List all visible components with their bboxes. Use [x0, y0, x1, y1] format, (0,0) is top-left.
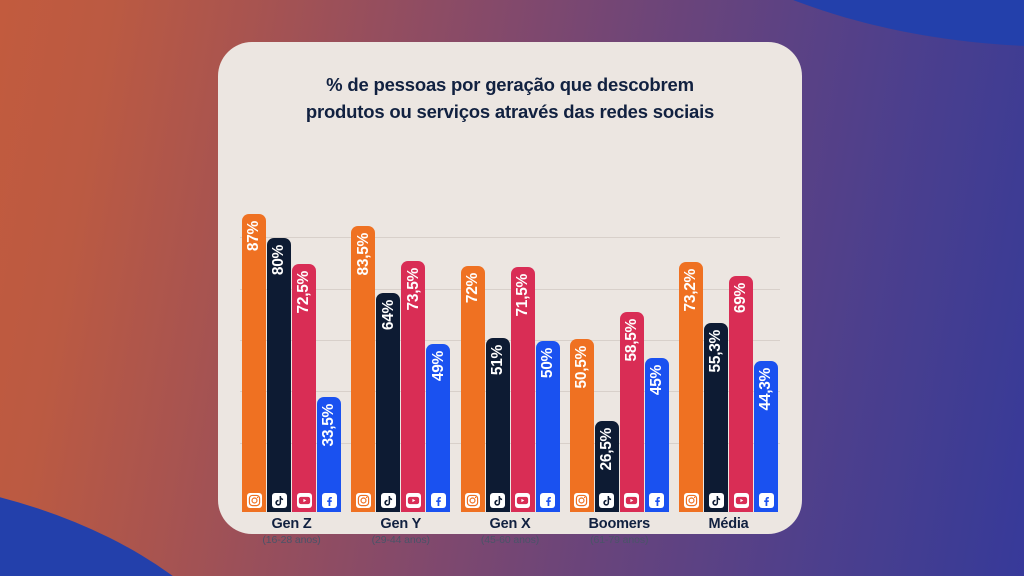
youtube-icon	[297, 493, 312, 508]
bar-value-label: 45%	[649, 365, 665, 395]
instagram-icon	[465, 493, 480, 508]
category-label-gen-y: Gen Y(29-44 anos)	[351, 516, 450, 548]
category-subtitle: (29-44 anos)	[351, 533, 450, 548]
bar-value-label: 73,5%	[406, 268, 422, 310]
bar-instagram-gen-x[interactable]: 72%	[461, 266, 485, 512]
bar-facebook-média[interactable]: 44,3%	[754, 361, 778, 513]
bar-value-label: 80%	[271, 245, 287, 275]
bar-value-label: 55,3%	[708, 330, 724, 372]
instagram-icon	[356, 493, 371, 508]
youtube-icon	[406, 493, 421, 508]
bar-facebook-gen-z[interactable]: 33,5%	[317, 397, 341, 512]
bar-value-label: 51%	[490, 345, 506, 375]
bar-instagram-boomers[interactable]: 50,5%	[570, 339, 594, 512]
bar-tiktok-gen-x[interactable]: 51%	[486, 338, 510, 512]
tiktok-icon	[490, 493, 505, 508]
category-name: Gen Z	[242, 516, 341, 533]
bar-instagram-média[interactable]: 73,2%	[679, 262, 703, 512]
bar-value-label: 49%	[431, 351, 447, 381]
facebook-icon	[322, 493, 337, 508]
bar-group: 50,5% 26,5% 58,5% 45%	[570, 168, 669, 512]
youtube-icon	[734, 493, 749, 508]
youtube-icon	[515, 493, 530, 508]
bar-tiktok-média[interactable]: 55,3%	[704, 323, 728, 512]
bar-tiktok-boomers[interactable]: 26,5%	[595, 421, 619, 512]
category-label-boomers: Boomers(61-79 anos)	[570, 516, 669, 548]
category-name: Média	[679, 516, 778, 533]
bar-facebook-gen-x[interactable]: 50%	[536, 341, 560, 512]
bar-group: 72% 51% 71,5% 50%	[461, 168, 560, 512]
bar-value-label: 64%	[381, 300, 397, 330]
bar-value-label: 73,2%	[683, 269, 699, 311]
bar-value-label: 72,5%	[296, 271, 312, 313]
bar-tiktok-gen-z[interactable]: 80%	[267, 238, 291, 512]
bar-instagram-gen-z[interactable]: 87%	[242, 214, 266, 512]
category-subtitle: (45-60 anos)	[461, 533, 560, 548]
poster-canvas: % de pessoas por geração que descobrem p…	[0, 0, 1024, 576]
category-label-gen-z: Gen Z(16-28 anos)	[242, 516, 341, 548]
bar-value-label: 58,5%	[624, 319, 640, 361]
bar-facebook-gen-y[interactable]: 49%	[426, 344, 450, 512]
bar-value-label: 50%	[540, 348, 556, 378]
bar-instagram-gen-y[interactable]: 83,5%	[351, 226, 375, 512]
category-name: Boomers	[570, 516, 669, 533]
bar-youtube-gen-z[interactable]: 72,5%	[292, 264, 316, 512]
bar-group: 87% 80% 72,5% 33,5%	[242, 168, 341, 512]
bar-value-label: 69%	[733, 283, 749, 313]
bar-value-label: 44,3%	[758, 368, 774, 410]
category-subtitle: (16-28 anos)	[242, 533, 341, 548]
category-name: Gen Y	[351, 516, 450, 533]
bar-value-label: 50,5%	[574, 346, 590, 388]
bar-youtube-boomers[interactable]: 58,5%	[620, 312, 644, 512]
bar-group: 73,2% 55,3% 69% 44,3%	[679, 168, 778, 512]
bar-value-label: 87%	[246, 221, 262, 251]
plot-area: 87% 80% 72,5% 33,5% 83,5% 64% 73,5% 49% …	[240, 168, 780, 512]
category-name: Gen X	[461, 516, 560, 533]
bar-value-label: 72%	[465, 273, 481, 303]
tiktok-icon	[709, 493, 724, 508]
category-axis: Gen Z(16-28 anos)Gen Y(29-44 anos)Gen X(…	[240, 516, 780, 548]
bar-value-label: 83,5%	[356, 233, 372, 275]
bar-group: 83,5% 64% 73,5% 49%	[351, 168, 450, 512]
bar-facebook-boomers[interactable]: 45%	[645, 358, 669, 512]
category-label-gen-x: Gen X(45-60 anos)	[461, 516, 560, 548]
bar-value-label: 71,5%	[515, 274, 531, 316]
bar-youtube-média[interactable]: 69%	[729, 276, 753, 512]
bar-value-label: 26,5%	[599, 428, 615, 470]
facebook-icon	[431, 493, 446, 508]
category-label-média: Média	[679, 516, 778, 548]
instagram-icon	[684, 493, 699, 508]
instagram-icon	[574, 493, 589, 508]
tiktok-icon	[272, 493, 287, 508]
tiktok-icon	[599, 493, 614, 508]
chart-title: % de pessoas por geração que descobrem p…	[246, 72, 774, 126]
bar-tiktok-gen-y[interactable]: 64%	[376, 293, 400, 512]
bar-youtube-gen-y[interactable]: 73,5%	[401, 261, 425, 512]
bar-youtube-gen-x[interactable]: 71,5%	[511, 267, 535, 512]
facebook-icon	[649, 493, 664, 508]
facebook-icon	[759, 493, 774, 508]
category-subtitle: (61-79 anos)	[570, 533, 669, 548]
bar-value-label: 33,5%	[321, 404, 337, 446]
youtube-icon	[624, 493, 639, 508]
chart-card: % de pessoas por geração que descobrem p…	[218, 42, 802, 534]
instagram-icon	[247, 493, 262, 508]
tiktok-icon	[381, 493, 396, 508]
bar-groups: 87% 80% 72,5% 33,5% 83,5% 64% 73,5% 49% …	[240, 168, 780, 512]
facebook-icon	[540, 493, 555, 508]
